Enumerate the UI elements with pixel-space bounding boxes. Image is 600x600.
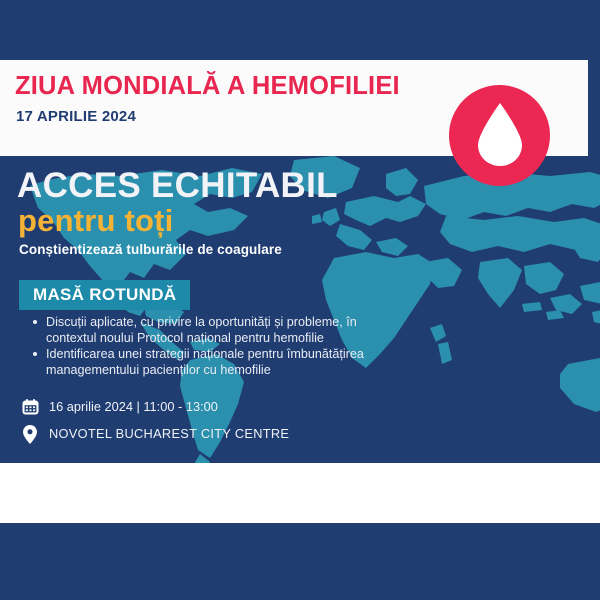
sponsor-bar: Organizator În parteneriat cu Cu susține…	[0, 463, 600, 523]
meta-row-datetime: 16 aprilie 2024 | 11:00 - 13:00	[20, 396, 289, 419]
agenda-list: Discuții aplicate, cu privire la oportun…	[30, 315, 396, 379]
tagline: Conștientizează tulburările de coagulare	[19, 243, 282, 257]
subheadline: pentru toți	[18, 205, 173, 236]
list-item: Identificarea unei strategii naționale p…	[46, 347, 396, 378]
calendar-icon	[20, 398, 40, 418]
event-date-banner: 17 APRILIE 2024	[16, 109, 136, 124]
blood-drop-icon	[475, 102, 525, 168]
event-datetime: 16 aprilie 2024 | 11:00 - 13:00	[49, 401, 218, 414]
blood-drop-badge	[449, 85, 550, 186]
location-pin-icon	[20, 425, 40, 445]
bullet-dot-icon	[33, 352, 37, 356]
list-item: Discuții aplicate, cu privire la oportun…	[46, 315, 396, 346]
page-title: ZIUA MONDIALĂ A HEMOFILIEI	[15, 74, 400, 100]
headline: ACCES ECHITABIL	[17, 168, 338, 203]
event-location: NOVOTEL BUCHAREST CITY CENTRE	[49, 428, 289, 441]
bullet-dot-icon	[33, 320, 37, 324]
list-item-label: Identificarea unei strategii naționale p…	[46, 347, 364, 377]
poster-canvas: ZIUA MONDIALĂ A HEMOFILIEI 17 APRILIE 20…	[0, 0, 600, 600]
event-meta: 16 aprilie 2024 | 11:00 - 13:00 NOVOTEL …	[20, 396, 289, 450]
list-item-label: Discuții aplicate, cu privire la oportun…	[46, 315, 357, 345]
status-badge: MASĂ ROTUNDĂ	[19, 280, 190, 310]
meta-row-location: NOVOTEL BUCHAREST CITY CENTRE	[20, 423, 289, 446]
